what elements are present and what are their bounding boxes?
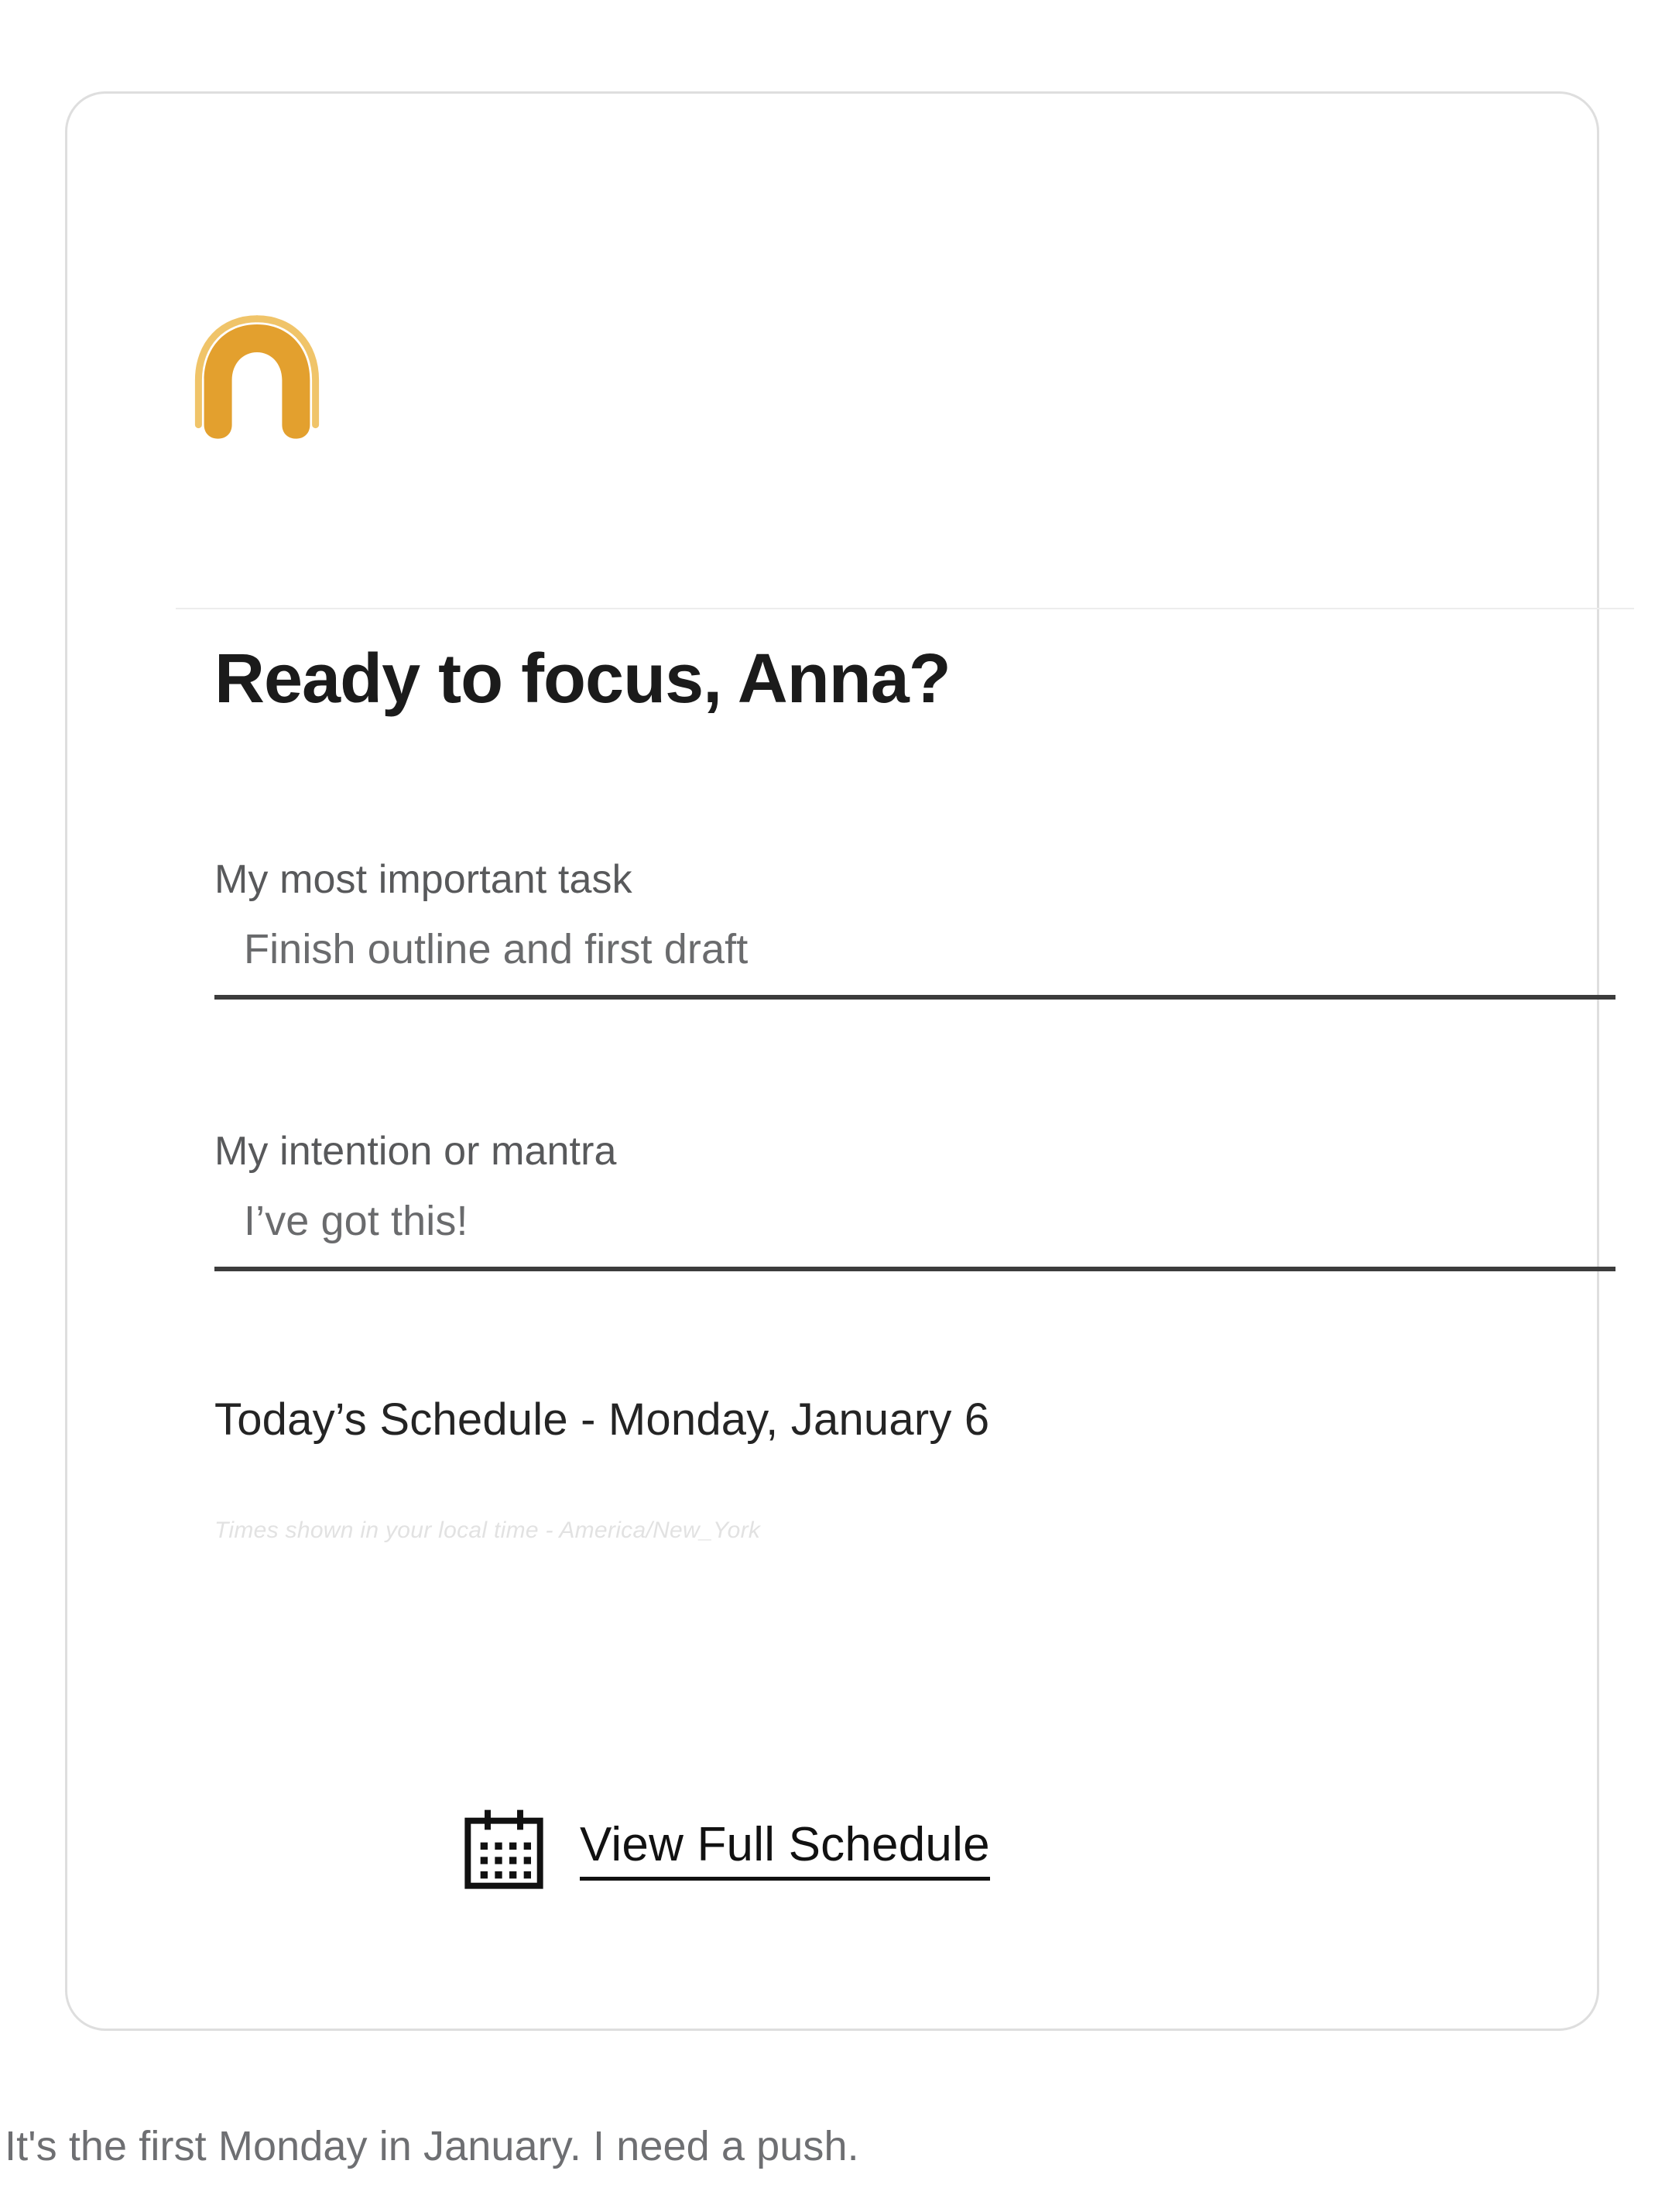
arch-horseshoe-logo-icon: [187, 310, 327, 450]
field-value[interactable]: Finish outline and first draft: [214, 925, 1615, 975]
focus-card: Ready to focus, Anna? My most important …: [65, 91, 1599, 2031]
header-divider: [176, 608, 1634, 609]
field-intention-or-mantra: My intention or mantra I’ve got this!: [214, 1128, 1615, 1271]
page-title: Ready to focus, Anna?: [214, 642, 1530, 717]
field-most-important-task: My most important task Finish outline an…: [214, 856, 1615, 1000]
focus-card-body: Ready to focus, Anna? My most important …: [67, 94, 1597, 2029]
field-underline: [214, 995, 1615, 1000]
field-value[interactable]: I’ve got this!: [214, 1197, 1615, 1247]
view-full-schedule-link[interactable]: View Full Schedule: [461, 1806, 990, 1893]
field-underline: [214, 1267, 1615, 1271]
field-label: My intention or mantra: [214, 1128, 1615, 1175]
schedule-heading: Today’s Schedule - Monday, January 6: [214, 1394, 1530, 1446]
field-label: My most important task: [214, 856, 1615, 904]
view-full-schedule-label: View Full Schedule: [580, 1819, 990, 1880]
email-preview-page: Ready to focus, Anna? My most important …: [0, 0, 1672, 2212]
calendar-icon: [461, 1806, 547, 1893]
timezone-note: Times shown in your local time - America…: [214, 1515, 1376, 1545]
caption-text: It's the first Monday in January. I need…: [5, 2121, 1630, 2172]
